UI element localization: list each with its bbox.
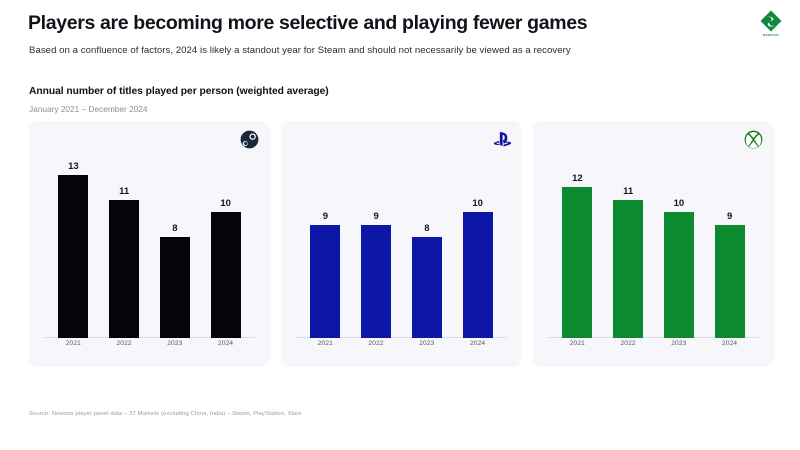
chart-period-label: January 2021 – December 2024: [29, 104, 148, 114]
bar-value-label: 10: [220, 199, 231, 209]
bar-group: 11: [109, 147, 139, 338]
chart-panel-playstation: 9 9 8 10 2021 2022 2023: [281, 121, 522, 367]
bar: [160, 237, 190, 338]
newzoo-logo: NEWZOO: [754, 6, 788, 40]
bar: [58, 175, 88, 338]
x-tick-label: 2023: [664, 340, 694, 347]
page-title: Players are becoming more selective and …: [28, 12, 587, 35]
bar: [412, 237, 442, 338]
bar: [664, 212, 694, 338]
bar-value-label: 9: [323, 212, 328, 222]
bar: [562, 187, 592, 338]
bar-series-steam: 13 11 8 10: [48, 147, 251, 338]
bar-value-label: 9: [373, 212, 378, 222]
bar-group: 9: [361, 147, 391, 338]
bar: [463, 212, 493, 338]
bar-group: 11: [613, 147, 643, 338]
x-tick-label: 2024: [211, 340, 241, 347]
bar: [310, 225, 340, 338]
bar-value-label: 8: [424, 224, 429, 234]
newzoo-wordmark: NEWZOO: [763, 33, 779, 37]
bar: [211, 212, 241, 338]
x-tick-label: 2021: [310, 340, 340, 347]
page-header: Players are becoming more selective and …: [0, 0, 800, 68]
bar: [715, 225, 745, 338]
bar: [109, 200, 139, 338]
x-axis-ticks-xbox: 2021 2022 2023 2024: [552, 340, 755, 355]
chart-panel-xbox: 12 11 10 9 2021 2022 2023: [533, 121, 774, 367]
bar-group: 13: [58, 147, 88, 338]
chart-heading: Annual number of titles played per perso…: [29, 86, 329, 97]
bar-group: 8: [160, 147, 190, 338]
x-tick-label: 2022: [613, 340, 643, 347]
page-subtitle: Based on a confluence of factors, 2024 i…: [29, 45, 571, 56]
chart-panels: 13 11 8 10 2021 2022 2023: [29, 121, 774, 367]
x-tick-label: 2024: [463, 340, 493, 347]
plot-area-playstation: 9 9 8 10 2021 2022 2023: [294, 147, 509, 357]
bar-group: 12: [562, 147, 592, 338]
newzoo-diamond-icon: [760, 10, 782, 32]
x-tick-label: 2022: [361, 340, 391, 347]
bar-value-label: 11: [623, 187, 633, 197]
bar-series-xbox: 12 11 10 9: [552, 147, 755, 338]
bar: [361, 225, 391, 338]
bar-group: 10: [211, 147, 241, 338]
x-tick-label: 2023: [160, 340, 190, 347]
bar-value-label: 10: [472, 199, 483, 209]
bar-value-label: 12: [572, 174, 583, 184]
bar-group: 8: [412, 147, 442, 338]
plot-area-steam: 13 11 8 10 2021 2022 2023: [42, 147, 257, 357]
x-axis-ticks-steam: 2021 2022 2023 2024: [48, 340, 251, 355]
plot-area-xbox: 12 11 10 9 2021 2022 2023: [546, 147, 761, 357]
bar-value-label: 13: [68, 162, 79, 172]
bar-group: 9: [715, 147, 745, 338]
bar-group: 9: [310, 147, 340, 338]
bar-group: 10: [463, 147, 493, 338]
x-tick-label: 2024: [715, 340, 745, 347]
x-axis-ticks-playstation: 2021 2022 2023 2024: [300, 340, 503, 355]
bar-value-label: 10: [674, 199, 685, 209]
x-tick-label: 2021: [58, 340, 88, 347]
source-note: Source: Newzoo player panel data – 37 Ma…: [29, 411, 301, 417]
x-tick-label: 2022: [109, 340, 139, 347]
bar-series-playstation: 9 9 8 10: [300, 147, 503, 338]
bar-value-label: 9: [727, 212, 732, 222]
bar-group: 10: [664, 147, 694, 338]
bar: [613, 200, 643, 338]
bar-value-label: 8: [172, 224, 177, 234]
bar-value-label: 11: [119, 187, 129, 197]
x-tick-label: 2021: [562, 340, 592, 347]
x-tick-label: 2023: [412, 340, 442, 347]
chart-panel-steam: 13 11 8 10 2021 2022 2023: [29, 121, 270, 367]
